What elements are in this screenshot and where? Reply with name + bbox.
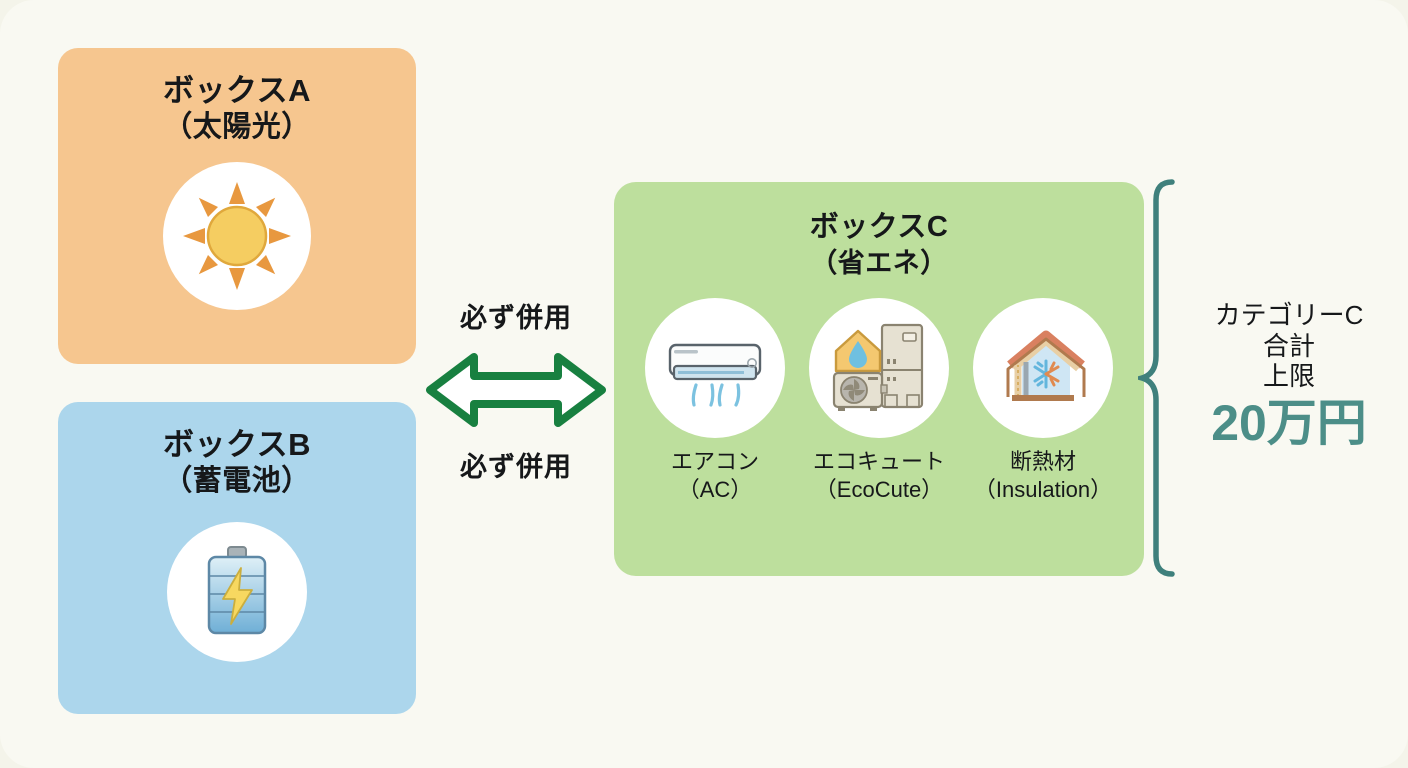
box-a-title: ボックスA	[163, 72, 311, 110]
aircon-label-en: （AC）	[671, 476, 759, 504]
box-b-battery[interactable]: ボックスB （蓄電池）	[58, 402, 416, 714]
insulation-house-icon	[988, 313, 1098, 423]
ecocute-label-en: （EcoCute）	[813, 476, 945, 504]
connector-group: 必ず併用 必ず併用	[418, 296, 614, 484]
insulation-icon-circle	[973, 298, 1113, 438]
callout-line-1: カテゴリーC	[1186, 300, 1392, 331]
air-conditioner-icon	[660, 313, 770, 423]
box-b-title: ボックスB	[163, 426, 311, 464]
connector-label-bottom: 必ず併用	[460, 445, 572, 484]
insulation-label-en: （Insulation）	[974, 476, 1112, 504]
box-c-item-aircon[interactable]: エアコン （AC）	[644, 298, 786, 504]
aircon-icon-circle	[645, 298, 785, 438]
callout-amount: 20万円	[1186, 396, 1392, 451]
box-c-energy-saving[interactable]: ボックスC （省エネ）	[614, 182, 1144, 576]
box-b-icon-circle	[167, 522, 307, 662]
box-b-subtitle: （蓄電池）	[163, 464, 311, 500]
brace-icon	[1138, 178, 1184, 578]
insulation-label-ja: 断熱材	[1010, 449, 1076, 474]
callout-line-2: 合計	[1186, 331, 1392, 362]
eco-cute-icon	[824, 313, 934, 423]
callout-line-3: 上限	[1186, 361, 1392, 392]
ecocute-label-ja: エコキュート	[813, 449, 945, 474]
box-a-icon-circle	[163, 162, 311, 310]
box-c-item-list: エアコン （AC）	[614, 298, 1144, 504]
box-c-item-ecocute[interactable]: エコキュート （EcoCute）	[808, 298, 950, 504]
ecocute-icon-circle	[809, 298, 949, 438]
box-c-item-ecocute-label: エコキュート （EcoCute）	[813, 448, 945, 504]
box-c-subtitle: （省エネ）	[614, 246, 1144, 280]
category-c-callout: カテゴリーC 合計 上限 20万円	[1186, 300, 1392, 451]
double-arrow-icon	[426, 351, 606, 429]
box-c-title: ボックスC	[614, 209, 1144, 246]
diagram-canvas: ボックスA （太陽光） ボックスB （蓄電池）	[0, 0, 1408, 768]
box-c-item-insulation[interactable]: 断熱材 （Insulation）	[972, 298, 1114, 504]
box-c-item-insulation-label: 断熱材 （Insulation）	[974, 448, 1112, 504]
box-a-subtitle: （太陽光）	[163, 110, 311, 146]
box-a-solar[interactable]: ボックスA （太陽光）	[58, 48, 416, 364]
battery-icon	[185, 540, 289, 644]
aircon-label-ja: エアコン	[671, 449, 759, 474]
box-c-item-aircon-label: エアコン （AC）	[671, 448, 759, 504]
connector-label-top: 必ず併用	[460, 296, 572, 335]
sun-icon	[179, 178, 295, 294]
